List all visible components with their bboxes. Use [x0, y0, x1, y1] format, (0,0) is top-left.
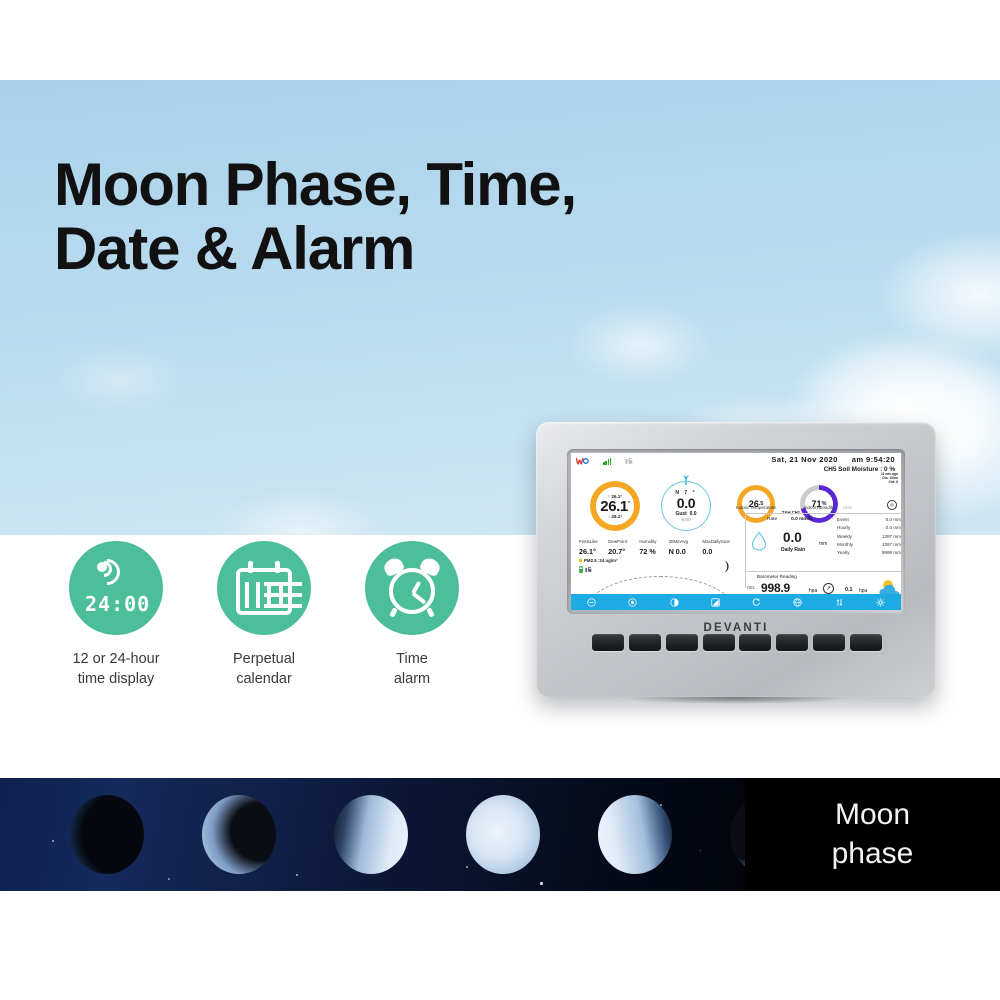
screen-toolbar: [571, 594, 901, 610]
trend-arrow-icon: ↗: [823, 583, 834, 594]
display-mode-icon[interactable]: [695, 598, 736, 607]
calendar-icon-circle: [217, 541, 311, 635]
screen-time: am 9:54:20: [852, 455, 895, 464]
moon-phase-first-quarter: [334, 795, 408, 874]
water-drop-icon: [751, 531, 767, 551]
feature-time-alarm: Time alarm: [342, 541, 482, 689]
sensor-icon: [585, 566, 592, 573]
device-button[interactable]: [813, 634, 845, 651]
daily-rain-unit: mm: [819, 541, 827, 547]
device-button-row: [592, 634, 882, 651]
wave-arc-outer: [89, 554, 126, 591]
moon-phase-label-panel: Moon phase: [745, 778, 1000, 891]
moon-phase-icon: [721, 560, 731, 573]
sensor-icon: [625, 457, 633, 465]
alarm-foot-right: [426, 607, 435, 617]
globe-icon[interactable]: [777, 598, 818, 607]
battery-status-row: [579, 566, 592, 573]
contrast-icon[interactable]: [654, 598, 695, 607]
feature-time-display: 24:00 12 or 24-hour time display: [46, 541, 186, 689]
barometer-value: 998.9: [761, 581, 790, 595]
device-button[interactable]: [629, 634, 661, 651]
moon-phase-full-moon: [598, 795, 672, 874]
moon-phase-waxing-gibbous: [466, 795, 540, 874]
table-row: Hourly0.0 mm: [837, 524, 901, 532]
screen-status-bar: [576, 457, 633, 465]
refresh-icon[interactable]: [736, 598, 777, 607]
temp-low: ↓ 26.1°: [608, 514, 622, 519]
moon-phase-new-moon: [70, 795, 144, 874]
alarm-clock-icon: [382, 559, 442, 617]
feature-list: 24:00 12 or 24-hour time display Pe: [46, 541, 526, 711]
brightness-down-icon[interactable]: [571, 598, 612, 607]
col-header: FeelsLike: [579, 539, 608, 544]
col-header: 30MinAvg: [669, 539, 703, 544]
sync-icon[interactable]: [819, 598, 860, 607]
col-value: 72 %: [639, 547, 668, 556]
rain-rate: Rate0.0 mm/h: [767, 517, 812, 522]
device-button[interactable]: [739, 634, 771, 651]
barometer-title: Barometer Reading: [757, 574, 797, 579]
device-button[interactable]: [850, 634, 882, 651]
col-value: 26.1°: [579, 547, 608, 556]
daily-rain-label: Daily Rain: [781, 547, 805, 553]
signal-bars-icon: [603, 458, 611, 465]
rain-panel: Rate0.0 mm/h 0.0 mm Daily Rain Event0.0 …: [747, 515, 901, 571]
page-root: Moon Phase, Time, Date & Alarm 24:00 12 …: [0, 0, 1000, 1000]
battery-icon: [579, 566, 583, 573]
moon-phase-waxing-crescent: [202, 795, 276, 874]
wifi-logo-icon: [576, 457, 589, 465]
page-title: Moon Phase, Time, Date & Alarm: [54, 153, 576, 280]
wind-speed: 0.0: [677, 496, 696, 511]
feature-label: Perpetual calendar: [194, 649, 334, 689]
table-row: Event0.0 mm: [837, 516, 901, 524]
top-white-margin: [0, 0, 1000, 80]
clock-24h-icon: 24:00: [85, 560, 147, 616]
col-header: MaxDailyGust: [702, 539, 739, 544]
temp-value: 26.1°: [600, 499, 629, 514]
moon-phase-label: Moon phase: [832, 796, 914, 873]
brightness-up-icon[interactable]: [612, 598, 653, 607]
rain-totals-table: Event0.0 mm Hourly0.0 mm Weekly1397 mm M…: [837, 516, 901, 558]
clock-digits: 24:00: [85, 592, 147, 616]
table-row: Monthly1397 mm: [837, 541, 901, 549]
device-screen[interactable]: Sat, 21 Nov 2020am 9:54:20 CH5 Soil Mois…: [571, 453, 901, 610]
alarm-foot-left: [389, 607, 398, 617]
calendar-icon: [236, 561, 292, 615]
barometer-delta: 0.1: [845, 587, 853, 593]
feature-perpetual-calendar: Perpetual calendar: [194, 541, 334, 689]
wind-unit: km/h: [681, 517, 690, 522]
col-header: DewPoint: [608, 539, 639, 544]
col-value: N 0.0: [669, 547, 703, 556]
weather-station-device: Sat, 21 Nov 2020am 9:54:20 CH5 Soil Mois…: [536, 422, 936, 697]
wind-gauge: N 7 ° 0.0 Gust 0.0 km/h: [661, 481, 711, 531]
screen-date: Sat, 21 Nov 2020: [771, 455, 837, 464]
clock-24h-icon-circle: 24:00: [69, 541, 163, 635]
screen-bezel: Sat, 21 Nov 2020am 9:54:20 CH5 Soil Mois…: [567, 449, 905, 614]
feature-label: Time alarm: [342, 649, 482, 689]
brand-logo: DEVANTI: [703, 622, 768, 634]
table-row: Weekly1397 mm: [837, 533, 901, 541]
feature-label: 12 or 24-hour time display: [46, 649, 186, 689]
col-value: 0.0: [702, 547, 739, 556]
pm25-reading: PM2.5 :24 ug/m³: [579, 558, 617, 563]
outdoor-sub-values: FeelsLike DewPoint Humidity 30MinAvg Max…: [579, 539, 739, 556]
col-header: Humidity: [639, 539, 668, 544]
device-button[interactable]: [776, 634, 808, 651]
device-button[interactable]: [703, 634, 735, 651]
divider-horizontal-top: [745, 513, 901, 514]
device-button[interactable]: [592, 634, 624, 651]
signal-waves-icon: [94, 560, 134, 586]
barometer-rel-label: REL: [747, 585, 755, 590]
device-button[interactable]: [666, 634, 698, 651]
soil-moisture-line: CH5 Soil Moisture : 0 %: [771, 466, 895, 473]
col-value: 20.7°: [608, 547, 639, 556]
table-row: Yearly9999 mm: [837, 549, 901, 557]
gear-icon[interactable]: [860, 598, 901, 607]
daily-rain-value: 0.0: [783, 531, 802, 545]
screen-datetime: Sat, 21 Nov 2020am 9:54:20 CH5 Soil Mois…: [771, 455, 895, 473]
divider-vertical: [745, 513, 746, 588]
bottom-white-margin: [0, 891, 1000, 1000]
divider-horizontal-bottom: [745, 571, 901, 572]
alarm-clock-icon-circle: [365, 541, 459, 635]
calendar-grid: [245, 582, 283, 608]
outdoor-temp-gauge: ↑ 26.1° 26.1° ↓ 26.1°: [590, 481, 640, 531]
co2-indicator-icon: ◎: [887, 500, 897, 510]
